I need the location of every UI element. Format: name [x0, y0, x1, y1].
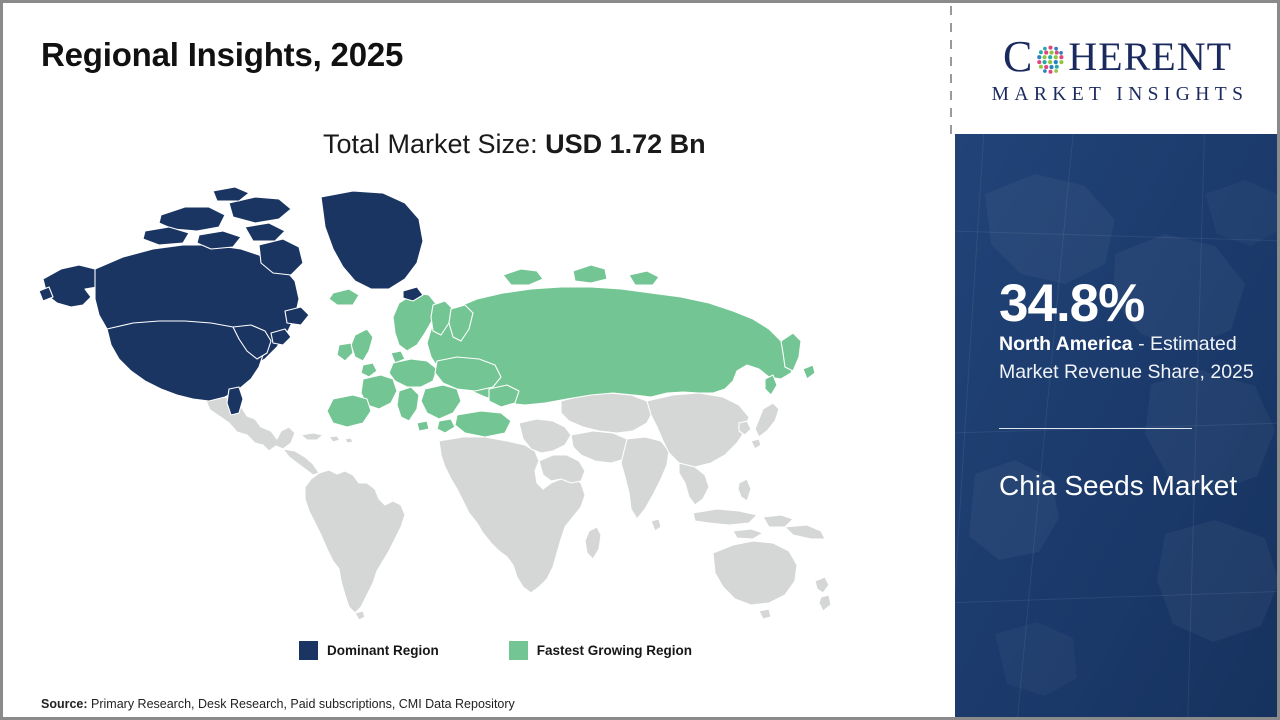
world-map [33, 183, 833, 623]
total-market-size-label: Total Market Size: [323, 129, 545, 159]
legend-label-fastest-growing: Fastest Growing Region [537, 643, 692, 658]
page-title: Regional Insights, 2025 [41, 36, 403, 74]
panel-divider [999, 428, 1192, 429]
legend-swatch-dominant [299, 641, 318, 660]
source-text: Primary Research, Desk Research, Paid su… [88, 697, 515, 711]
stats-panel: 34.8% North America - Estimated Market R… [955, 134, 1280, 720]
legend-item-dominant: Dominant Region [299, 641, 439, 660]
source-prefix: Source: [41, 697, 88, 711]
logo-letter-c: C [1003, 35, 1033, 79]
stats-content: 34.8% North America - Estimated Market R… [955, 134, 1280, 720]
vertical-dashed-divider [950, 6, 952, 136]
total-market-size-value: USD 1.72 Bn [545, 129, 706, 159]
company-logo: C [955, 6, 1280, 134]
logo-wordmark: C [1003, 35, 1232, 79]
map-legend: Dominant Region Fastest Growing Region [299, 641, 692, 660]
share-value: 34.8% [999, 277, 1144, 330]
logo-subtitle: MARKET INSIGHTS [987, 84, 1249, 106]
share-caption: North America - Estimated Market Revenue… [999, 331, 1264, 386]
legend-item-fastest-growing: Fastest Growing Region [509, 641, 692, 660]
dot-globe-icon [1034, 43, 1067, 76]
share-caption-region: North America [999, 333, 1133, 355]
map-region-other [204, 393, 831, 620]
left-panel: Regional Insights, 2025 Total Market Siz… [3, 3, 951, 717]
source-note: Source: Primary Research, Desk Research,… [41, 697, 515, 711]
logo-wordmark-rest: HERENT [1068, 37, 1232, 77]
regional-insights-infographic: Regional Insights, 2025 Total Market Siz… [0, 0, 1280, 720]
legend-swatch-fastest-growing [509, 641, 528, 660]
legend-label-dominant: Dominant Region [327, 643, 439, 658]
total-market-size: Total Market Size: USD 1.72 Bn [323, 129, 706, 160]
market-name: Chia Seeds Market [999, 464, 1249, 509]
